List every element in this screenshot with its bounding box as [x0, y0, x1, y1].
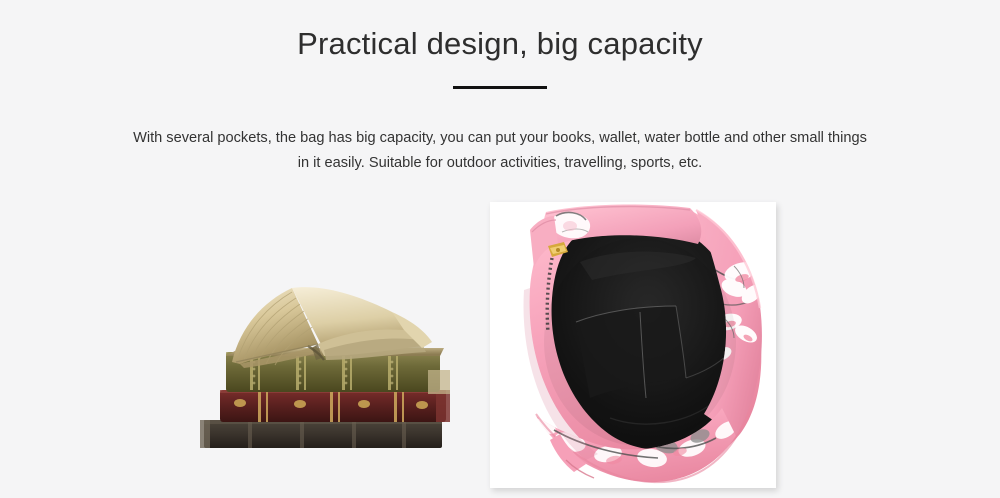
books-photo: Stack of three antique hardcover books w… [196, 270, 460, 468]
heading-block: Practical design, big capacity [0, 24, 1000, 89]
media-row: Stack of three antique hardcover books w… [0, 198, 1000, 498]
page-title: Practical design, big capacity [0, 24, 1000, 64]
intro-block: With several pockets, the bag has big ca… [130, 126, 870, 176]
bag-photo-card: Open pink floral print backpack showing … [490, 202, 776, 488]
title-underline-rule [453, 86, 547, 89]
books-illustration [196, 270, 460, 468]
intro-paragraph: With several pockets, the bag has big ca… [130, 126, 870, 176]
product-feature-banner: Practical design, big capacity With seve… [0, 0, 1000, 498]
backpack-illustration [490, 202, 776, 488]
